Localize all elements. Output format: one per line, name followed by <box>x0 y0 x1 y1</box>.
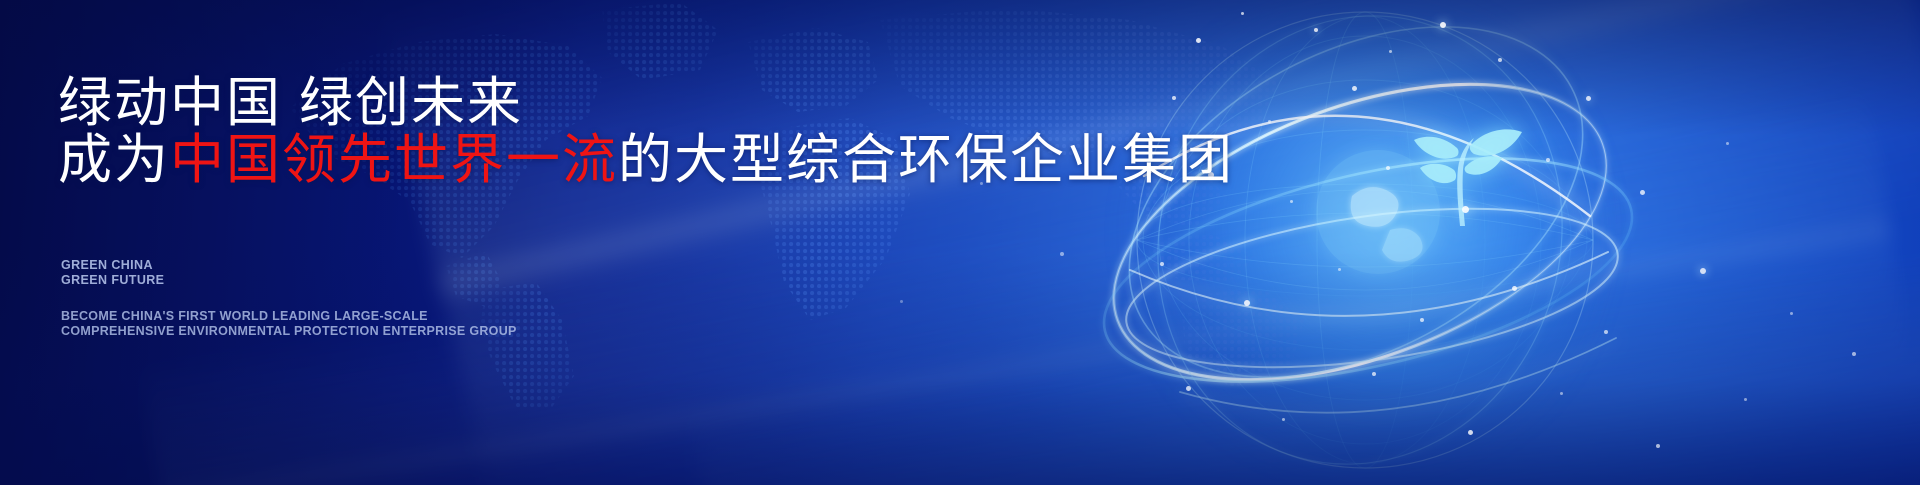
headline-suffix: 的大型综合环保企业集团 <box>618 130 1234 190</box>
english-subcopy-line-2: COMPREHENSIVE ENVIRONMENTAL PROTECTION E… <box>61 324 517 339</box>
headline-line-2: 成为中国领先世界一流的大型综合环保企业集团 <box>58 133 1234 187</box>
green-sprout-icon <box>1400 108 1530 228</box>
english-subcopy: BECOME CHINA'S FIRST WORLD LEADING LARGE… <box>61 309 517 339</box>
english-tagline-line-1: GREEN CHINA <box>61 258 164 273</box>
headline-line-1: 绿动中国 绿创未来 <box>58 76 523 130</box>
english-tagline-line-2: GREEN FUTURE <box>61 273 164 288</box>
banner-copy: 绿动中国 绿创未来 成为中国领先世界一流的大型综合环保企业集团 GREEN CH… <box>58 0 1058 485</box>
english-subcopy-line-1: BECOME CHINA'S FIRST WORLD LEADING LARGE… <box>61 309 517 324</box>
headline-prefix: 成为 <box>58 130 170 190</box>
hero-banner: 绿动中国 绿创未来 成为中国领先世界一流的大型综合环保企业集团 GREEN CH… <box>0 0 1920 485</box>
headline-highlight: 中国领先世界一流 <box>170 130 618 190</box>
english-tagline: GREEN CHINA GREEN FUTURE <box>61 258 164 288</box>
